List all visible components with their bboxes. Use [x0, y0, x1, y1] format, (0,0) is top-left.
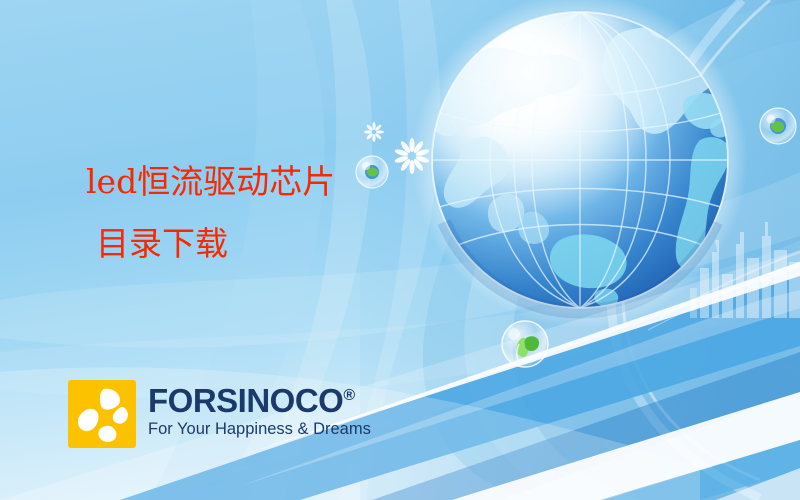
company-logo: FORSINOCO® For Your Happiness & Dreams	[68, 380, 371, 448]
logo-wordmark: FORSINOCO®	[148, 384, 371, 418]
forsinoco-pinwheel-mark	[68, 380, 136, 448]
logo-text-block: FORSINOCO® For Your Happiness & Dreams	[148, 380, 371, 439]
earth-globe	[412, 0, 748, 328]
registered-trademark-icon: ®	[343, 387, 354, 404]
globe-bubble-small-left	[356, 156, 388, 188]
leaf-bubble-lower	[502, 321, 548, 367]
banner-canvas: led恒流驱动芯片 目录下载 FORSINOCO® For Your Happi…	[0, 0, 800, 500]
pinwheel-petals-icon	[68, 380, 136, 448]
logo-tagline: For Your Happiness & Dreams	[148, 419, 371, 439]
logo-wordmark-text: FORSINOCO	[148, 382, 343, 419]
globe-bubble-right-edge	[760, 108, 796, 144]
